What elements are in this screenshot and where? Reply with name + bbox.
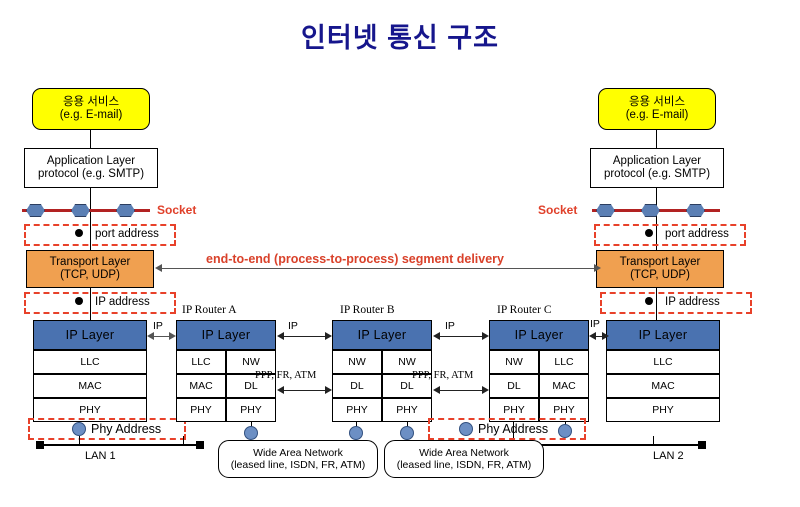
router-a-left-2-label: MAC xyxy=(189,380,212,392)
router-c-right-3-label: PHY xyxy=(553,404,575,416)
left-app-service-line1: 응용 서비스 xyxy=(63,96,119,109)
end-to-end-arrow-line xyxy=(162,268,594,269)
right-app-service-box: 응용 서비스 (e.g. E-mail) xyxy=(598,88,716,130)
router-c-right-2-label: MAC xyxy=(552,380,575,392)
link-protocol-label-1: PPP, FR, ATM xyxy=(255,370,316,381)
router-a-left-2: MAC xyxy=(176,374,226,398)
left-phy-address-label: Phy Address xyxy=(91,422,161,436)
router-a-ip-layer-label: IP Layer xyxy=(202,328,251,342)
ip-hop-3-head-right xyxy=(482,332,489,340)
router-a-left-3-label: PHY xyxy=(190,404,212,416)
left-socket-node-3 xyxy=(116,204,135,217)
right-app-protocol-line1: Application Layer xyxy=(613,155,701,168)
router-c-right-1-label: LLC xyxy=(554,356,573,368)
right-phy-address-label: Phy Address xyxy=(478,422,548,436)
router-b-ip-layer-label: IP Layer xyxy=(358,328,407,342)
router-b-right-2-label: DL xyxy=(400,380,413,392)
right-app-connector xyxy=(656,130,657,148)
link-protocol-2-head-right xyxy=(482,386,489,394)
router-b-right-1-label: NW xyxy=(398,356,416,368)
left-ip-layer-label: IP Layer xyxy=(66,328,115,342)
left-transport-layer-box: Transport Layer (TCP, UDP) xyxy=(26,250,154,288)
link-protocol-line-2 xyxy=(440,390,484,391)
left-app-protocol-line2: protocol (e.g. SMTP) xyxy=(38,168,144,181)
left-app-protocol-line1: Application Layer xyxy=(47,155,135,168)
router-b-caption: IP Router B xyxy=(340,304,395,316)
router-c-caption: IP Router C xyxy=(497,304,552,316)
lan2-terminator-right xyxy=(698,441,706,449)
right-ip-address-dot xyxy=(645,297,653,305)
right-sublayer-phy: PHY xyxy=(606,398,720,422)
router-c-left-1: NW xyxy=(489,350,539,374)
end-to-end-arrow-head-left xyxy=(155,264,162,272)
wan-box-2: Wide Area Network (leased line, ISDN, FR… xyxy=(384,440,544,478)
right-app-protocol-line2: protocol (e.g. SMTP) xyxy=(604,168,710,181)
ip-hop-label-4: IP xyxy=(590,318,600,330)
left-app-connector xyxy=(90,130,91,148)
left-transport-line1: Transport Layer xyxy=(50,256,131,269)
router-b-left-2: DL xyxy=(332,374,382,398)
right-ip-address-label: IP address xyxy=(665,296,720,308)
end-to-end-arrow-head-right xyxy=(594,264,601,272)
left-sublayer-mac: MAC xyxy=(33,374,147,398)
router-c-ip-layer-label: IP Layer xyxy=(515,328,564,342)
router-a-wan-node xyxy=(244,426,258,440)
router-a-caption: IP Router A xyxy=(182,304,237,316)
ip-hop-line-2 xyxy=(284,336,328,337)
router-b-left-3: PHY xyxy=(332,398,382,422)
ip-hop-1-head-right xyxy=(169,332,176,340)
right-ip-layer-box: IP Layer xyxy=(606,320,720,350)
link-protocol-1-head-right xyxy=(325,386,332,394)
left-app-protocol-box: Application Layer protocol (e.g. SMTP) xyxy=(24,148,158,188)
left-socket-label: Socket xyxy=(157,203,196,217)
ip-hop-3-head-left xyxy=(433,332,440,340)
router-b-left-2-label: DL xyxy=(350,380,363,392)
router-c-left-2-label: DL xyxy=(507,380,520,392)
right-sublayer-mac-label: MAC xyxy=(651,380,674,392)
router-a-right-2-label: DL xyxy=(244,380,257,392)
left-sublayer-llc: LLC xyxy=(33,350,147,374)
right-socket-node-3 xyxy=(686,204,705,217)
right-socket-node-1 xyxy=(596,204,615,217)
ip-hop-4-head-left xyxy=(589,332,596,340)
lan1-terminator-left xyxy=(36,441,44,449)
right-transport-line1: Transport Layer xyxy=(620,256,701,269)
left-ip-address-label: IP address xyxy=(95,296,150,308)
end-to-end-arrow-label: end-to-end (process-to-process) segment … xyxy=(206,252,504,266)
left-ip-layer-box: IP Layer xyxy=(33,320,147,350)
left-port-address-dot xyxy=(75,229,83,237)
right-sublayer-phy-label: PHY xyxy=(652,404,674,416)
lan1-terminator-right xyxy=(196,441,204,449)
right-ip-layer-label: IP Layer xyxy=(639,328,688,342)
right-socket-label: Socket xyxy=(538,203,577,217)
router-c-left-2: DL xyxy=(489,374,539,398)
router-a-left-1: LLC xyxy=(176,350,226,374)
left-port-address-label: port address xyxy=(95,228,159,240)
ip-hop-2-head-left xyxy=(277,332,284,340)
ip-hop-1-head-left xyxy=(147,332,154,340)
left-ip-address-dot xyxy=(75,297,83,305)
right-sublayer-llc-label: LLC xyxy=(653,356,672,368)
router-a-right-1-label: NW xyxy=(242,356,260,368)
left-app-service-line2: (e.g. E-mail) xyxy=(60,109,123,122)
right-sublayer-llc: LLC xyxy=(606,350,720,374)
link-protocol-line-1 xyxy=(284,390,328,391)
left-transport-line2: (TCP, UDP) xyxy=(60,269,120,282)
wan-2-line1: Wide Area Network xyxy=(419,447,509,459)
wan-1-line2: (leased line, ISDN, FR, ATM) xyxy=(231,459,366,471)
router-c-left-1-label: NW xyxy=(505,356,523,368)
router-a-ip-layer-box: IP Layer xyxy=(176,320,276,350)
lan2-label: LAN 2 xyxy=(653,450,684,462)
left-socket-node-2 xyxy=(71,204,90,217)
router-b-left-1: NW xyxy=(332,350,382,374)
right-sublayer-mac: MAC xyxy=(606,374,720,398)
left-sublayer-llc-label: LLC xyxy=(80,356,99,368)
ip-hop-2-head-right xyxy=(325,332,332,340)
router-b-right-3: PHY xyxy=(382,398,432,422)
left-app-service-box: 응용 서비스 (e.g. E-mail) xyxy=(32,88,150,130)
ip-hop-label-3: IP xyxy=(445,320,455,332)
router-b-right-3-label: PHY xyxy=(396,404,418,416)
right-app-service-line2: (e.g. E-mail) xyxy=(626,109,689,122)
link-protocol-label-2: PPP, FR, ATM xyxy=(412,370,473,381)
router-a-left-1-label: LLC xyxy=(191,356,210,368)
page-title: 인터넷 통신 구조 xyxy=(0,16,800,55)
wan-box-1: Wide Area Network (leased line, ISDN, FR… xyxy=(218,440,378,478)
right-app-protocol-box: Application Layer protocol (e.g. SMTP) xyxy=(590,148,724,188)
link-protocol-1-head-left xyxy=(277,386,284,394)
router-c-left-3-label: PHY xyxy=(503,404,525,416)
left-sublayer-mac-label: MAC xyxy=(78,380,101,392)
right-socket-node-2 xyxy=(641,204,660,217)
router-a-right-3-label: PHY xyxy=(240,404,262,416)
ip-hop-4-head-right xyxy=(602,332,609,340)
diagram-canvas: 인터넷 통신 구조 응용 서비스 (e.g. E-mail) Applicati… xyxy=(0,0,800,507)
router-a-right-3: PHY xyxy=(226,398,276,422)
router-b-wan-right-node xyxy=(400,426,414,440)
wan-2-line2: (leased line, ISDN, FR, ATM) xyxy=(397,459,532,471)
link-protocol-2-head-left xyxy=(433,386,440,394)
router-b-left-1-label: NW xyxy=(348,356,366,368)
left-phy-node xyxy=(72,422,86,436)
left-socket-node-1 xyxy=(26,204,45,217)
wan-1-line1: Wide Area Network xyxy=(253,447,343,459)
right-transport-layer-box: Transport Layer (TCP, UDP) xyxy=(596,250,724,288)
right-phy-node xyxy=(459,422,473,436)
right-port-address-dot xyxy=(645,229,653,237)
router-c-right-2: MAC xyxy=(539,374,589,398)
right-app-service-line1: 응용 서비스 xyxy=(629,96,685,109)
router-c-right-1: LLC xyxy=(539,350,589,374)
ip-hop-label-2: IP xyxy=(288,320,298,332)
right-transport-line2: (TCP, UDP) xyxy=(630,269,690,282)
router-b-ip-layer-box: IP Layer xyxy=(332,320,432,350)
lan1-label: LAN 1 xyxy=(85,450,116,462)
left-sublayer-phy-label: PHY xyxy=(79,404,101,416)
ip-hop-label-1: IP xyxy=(153,320,163,332)
router-b-left-3-label: PHY xyxy=(346,404,368,416)
router-c-ip-layer-box: IP Layer xyxy=(489,320,589,350)
router-b-wan-left-node xyxy=(349,426,363,440)
ip-hop-line-3 xyxy=(440,336,484,337)
lan1-bus xyxy=(40,444,200,446)
right-port-address-label: port address xyxy=(665,228,729,240)
router-a-left-3: PHY xyxy=(176,398,226,422)
